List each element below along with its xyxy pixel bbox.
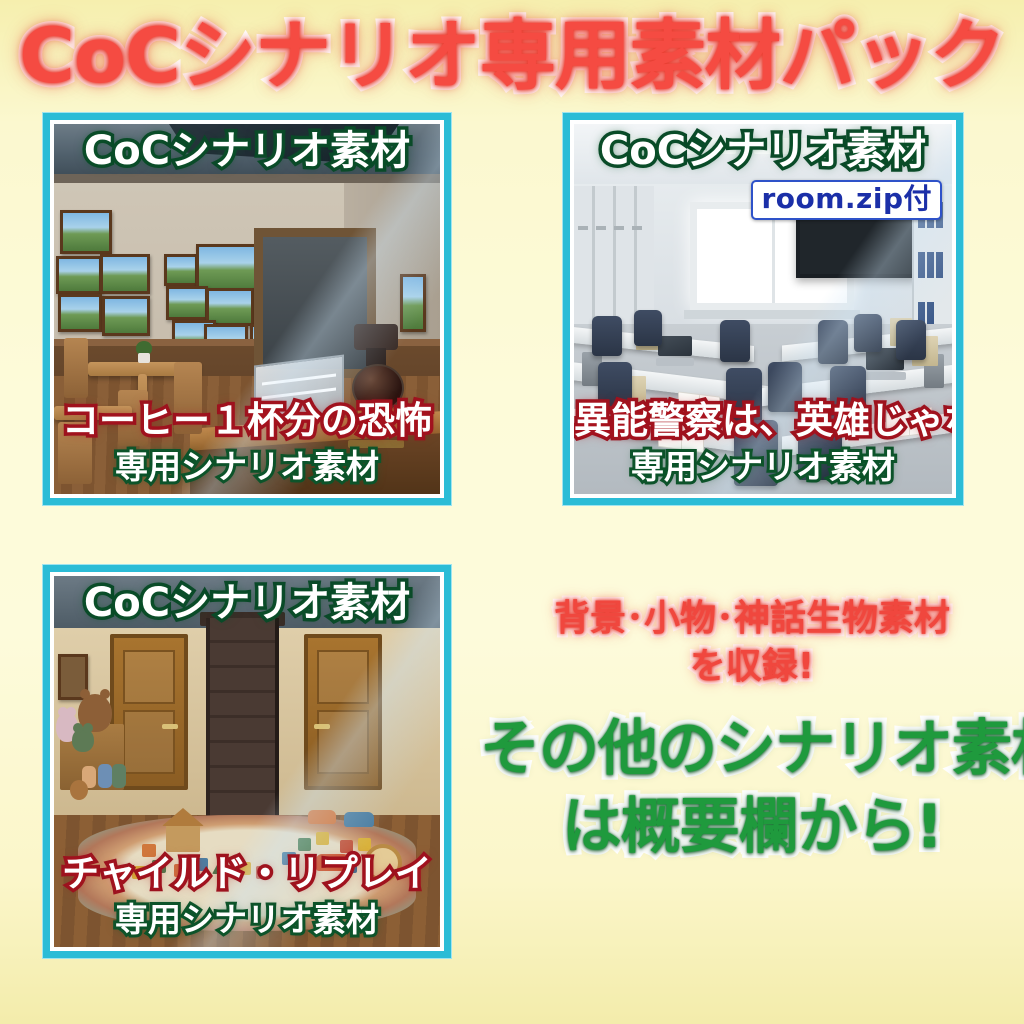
window-sill: [684, 310, 860, 319]
scenario-card-coffee[interactable]: CoCシナリオ素材 コーヒー１杯分の恐怖 専用シナリオ素材: [43, 113, 451, 505]
card-scenario-title: チャイルド・リプレイ: [54, 853, 440, 895]
zip-attachment-badge: room.zip付: [751, 180, 942, 220]
toy-car: [344, 812, 374, 827]
card-scenario-title: コーヒー１杯分の恐怖: [54, 400, 440, 442]
office-chair: [854, 314, 882, 352]
door-knob[interactable]: [162, 724, 178, 729]
door-panel: [317, 710, 369, 774]
promo-red-line-1: 背景･小物･神話生物素材: [480, 596, 1024, 642]
wall-picture-frame: [164, 254, 198, 286]
laptop-computer: [658, 336, 692, 366]
promo-green-line-1: その他のシナリオ素材: [480, 712, 1024, 786]
promo-text-block: 背景･小物･神話生物素材 を収録! その他のシナリオ素材 は概要欄から!: [480, 596, 1024, 864]
wall-picture-frame: [58, 294, 102, 332]
card-header-label: CoCシナリオ素材: [54, 128, 440, 174]
promo-green-line-2: は概要欄から!: [480, 790, 1024, 864]
card-image-child: CoCシナリオ素材 チャイルド・リプレイ 専用シナリオ素材: [54, 576, 440, 947]
card-scenario-title: 異能警察は、英雄じゃない: [574, 400, 952, 442]
door-knob[interactable]: [314, 724, 330, 729]
siphon-hopper: [354, 324, 398, 350]
wall-picture-frame: [166, 286, 208, 320]
office-chair: [634, 310, 662, 346]
card-scenario-subtitle: 専用シナリオ素材: [54, 448, 440, 486]
table-plant: [136, 341, 152, 363]
teddy-bear-small: [70, 780, 88, 800]
plush-bear-green: [72, 728, 94, 752]
promo-red-line-2: を収録!: [480, 644, 1024, 690]
card-header-label: CoCシナリオ素材: [54, 580, 440, 626]
doll-figure: [98, 764, 112, 788]
door-panel: [123, 650, 175, 704]
door-panel: [317, 650, 369, 704]
office-chair: [896, 320, 926, 360]
office-chair: [592, 316, 622, 356]
wall-picture-frame: [56, 256, 102, 294]
cafe-crown-molding: [54, 174, 440, 183]
toy-block: [298, 838, 311, 851]
poster-canvas: CoCシナリオ専用素材パック: [0, 0, 1024, 1024]
card-image-police: CoCシナリオ素材 room.zip付 異能警察は、英雄じゃない 専用シナリオ素…: [574, 124, 952, 494]
toy-block: [316, 832, 329, 845]
wall-picture-frame: [196, 244, 260, 292]
card-header-label: CoCシナリオ素材: [574, 128, 952, 174]
toy-car: [308, 810, 336, 824]
office-chair: [818, 320, 848, 364]
window-mullion: [772, 209, 775, 303]
scenario-card-police[interactable]: CoCシナリオ素材 room.zip付 異能警察は、英雄じゃない 専用シナリオ素…: [563, 113, 963, 505]
card-scenario-subtitle: 専用シナリオ素材: [574, 448, 952, 486]
scenario-card-child[interactable]: CoCシナリオ素材 チャイルド・リプレイ 専用シナリオ素材: [43, 565, 451, 958]
office-chair: [720, 320, 750, 362]
wall-picture-frame: [60, 210, 112, 254]
page-title: CoCシナリオ専用素材パック: [0, 14, 1024, 98]
wall-picture-frame: [102, 296, 150, 336]
child-room-door-right[interactable]: [304, 634, 382, 790]
cafe-chair: [64, 338, 88, 398]
wall-picture-frame: [100, 254, 150, 294]
doll-figure: [112, 764, 126, 788]
door-panel: [123, 710, 175, 774]
card-image-coffee: CoCシナリオ素材 コーヒー１杯分の恐怖 専用シナリオ素材: [54, 124, 440, 494]
card-scenario-subtitle: 専用シナリオ素材: [54, 901, 440, 939]
plant-pot: [138, 353, 150, 363]
toy-house: [166, 824, 200, 852]
